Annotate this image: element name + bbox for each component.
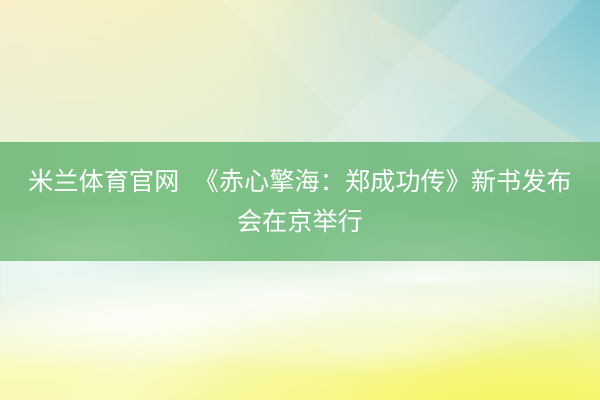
headline-band: 米兰体育官网 《赤心擎海：郑成功传》新书发布会在京举行 — [0, 142, 600, 261]
banner-image: 米兰体育官网 《赤心擎海：郑成功传》新书发布会在京举行 — [0, 0, 600, 400]
banner-headline: 米兰体育官网 《赤心擎海：郑成功传》新书发布会在京举行 — [18, 162, 582, 242]
background-facet-notch — [370, 0, 600, 150]
